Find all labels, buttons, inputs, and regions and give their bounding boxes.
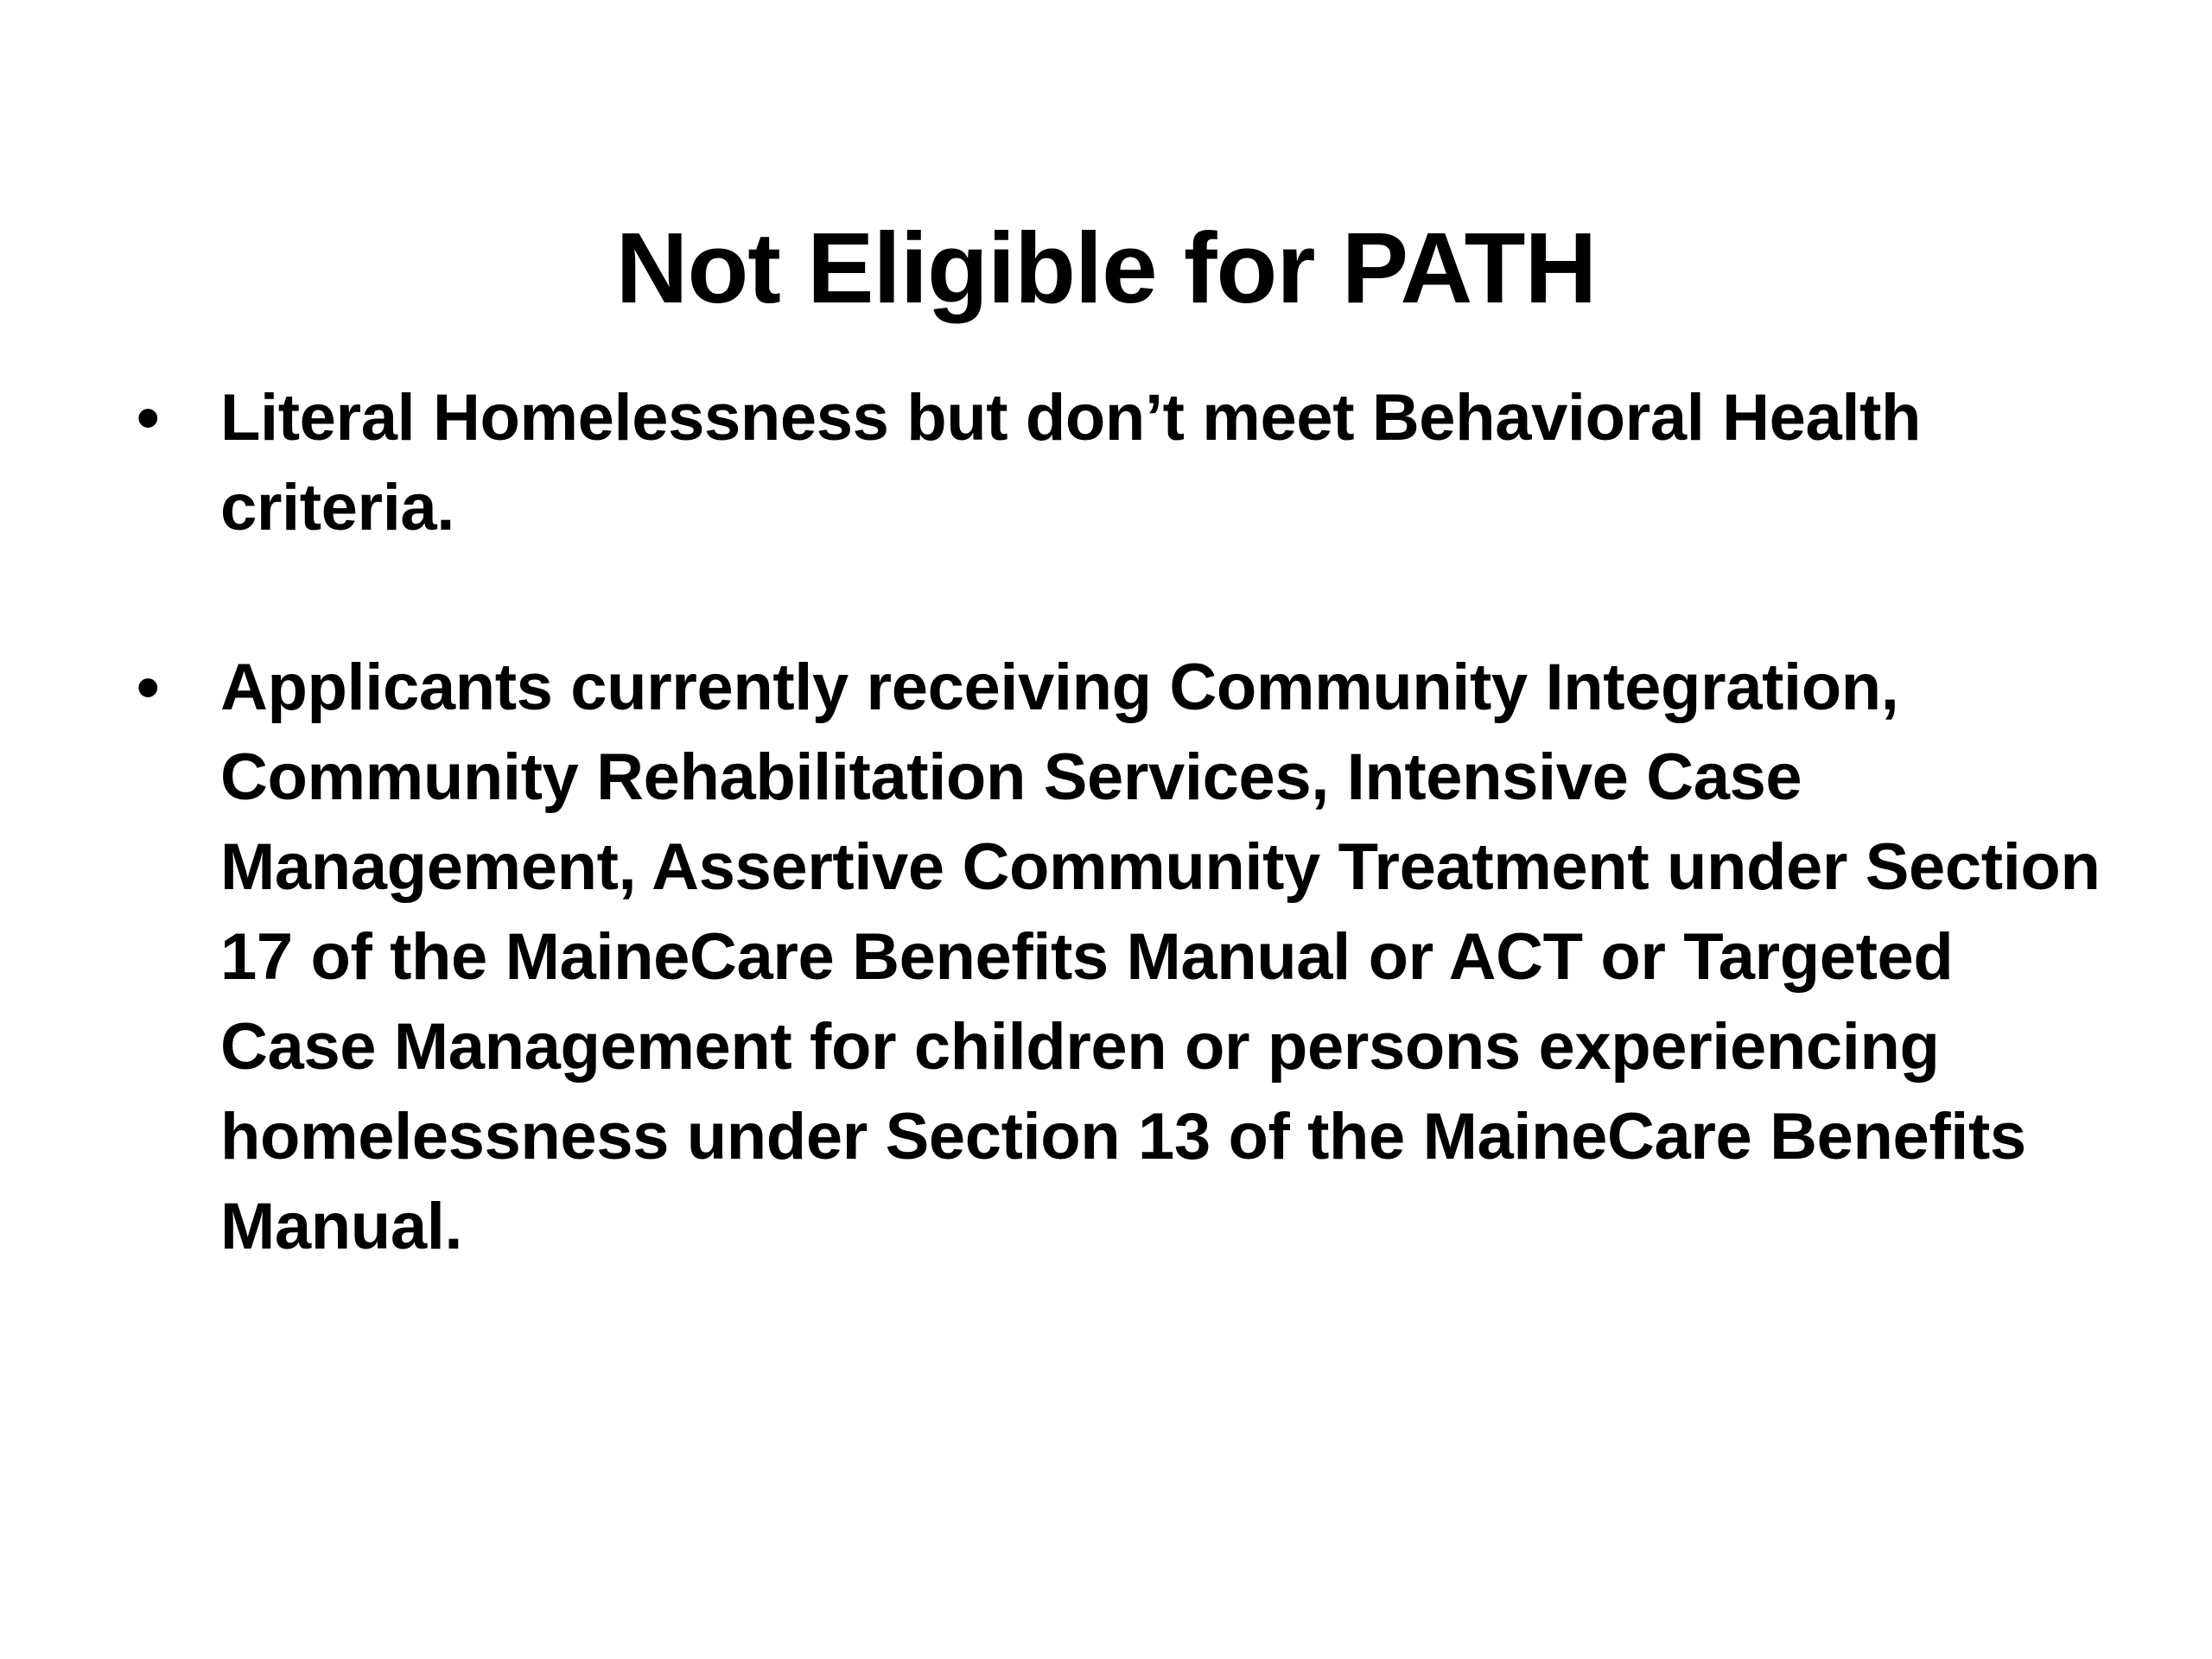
- list-item-text: Literal Homelessness but don’t meet Beha…: [220, 373, 2108, 553]
- list-item-text: Applicants currently receiving Community…: [220, 643, 2108, 1272]
- list-item: • Literal Homelessness but don’t meet Be…: [130, 373, 2108, 553]
- slide-canvas: Not Eligible for PATH • Literal Homeless…: [0, 0, 2212, 1659]
- list-item: • Applicants currently receiving Communi…: [130, 643, 2108, 1272]
- bullet-point-icon: •: [137, 643, 188, 733]
- bullet-list: • Literal Homelessness but don’t meet Be…: [130, 373, 2108, 1272]
- slide-body: • Literal Homelessness but don’t meet Be…: [130, 373, 2108, 1272]
- bullet-point-icon: •: [137, 373, 188, 463]
- page-title: Not Eligible for PATH: [0, 213, 2212, 325]
